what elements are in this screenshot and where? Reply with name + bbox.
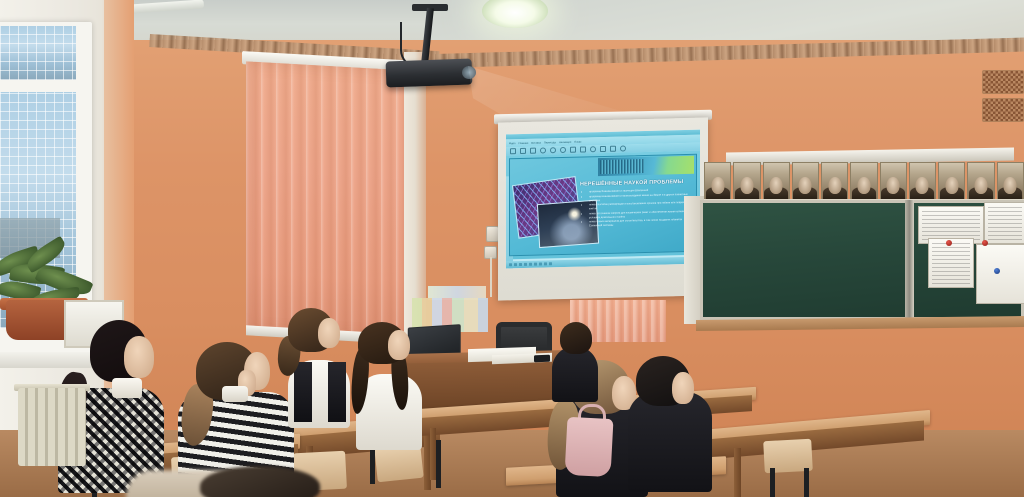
student-vest (294, 362, 312, 422)
volume-icon[interactable] (544, 262, 547, 265)
chair-leg (804, 468, 809, 497)
ribbon-tab-home[interactable]: Главная (518, 141, 528, 144)
student-vest (328, 362, 346, 422)
student-torso (628, 392, 712, 492)
note-icon[interactable] (580, 146, 586, 152)
magnet-icon[interactable] (946, 240, 952, 246)
window-pane-top (0, 26, 76, 80)
chair-leg (770, 468, 775, 497)
portrait (909, 162, 936, 202)
slide-canvas[interactable]: НЕРЕШЁННЫЕ НАУКОЙ ПРОБЛЕМЫ проблема बозн… (506, 151, 700, 260)
zoom-icon[interactable] (540, 147, 546, 153)
wall-vent-icon (982, 70, 1024, 94)
board-center-divider (905, 200, 914, 320)
text-icon[interactable] (530, 148, 536, 154)
pen-icon[interactable] (590, 146, 596, 152)
smartphone-on-desk[interactable] (534, 355, 550, 363)
word-icon[interactable] (529, 263, 532, 266)
wall-vent-icon (982, 98, 1024, 122)
portrait (821, 162, 848, 202)
writer-portraits-row (704, 162, 1024, 202)
student-hair (560, 322, 592, 354)
presentation-app-window[interactable]: Файл Главная Вставка Переходы Анимация П… (506, 130, 700, 269)
chair-frame-bar (436, 440, 441, 488)
student-head (672, 372, 694, 404)
ribbon-tab-transitions[interactable]: Переходы (544, 141, 556, 144)
current-slide: НЕРЕШЁННЫЕ НАУКОЙ ПРОБЛЕМЫ проблема बозн… (509, 154, 697, 257)
highlight-icon[interactable] (600, 146, 606, 152)
student-collar (222, 386, 248, 402)
browser-icon[interactable] (514, 263, 517, 266)
window-sill (0, 352, 98, 368)
outlet-cable (490, 257, 492, 297)
folder-icon[interactable] (519, 263, 522, 266)
cursor-icon[interactable] (510, 148, 516, 154)
portrait (938, 162, 965, 202)
portrait (704, 162, 731, 202)
shape-icon[interactable] (520, 148, 526, 154)
desk-leg (734, 448, 741, 497)
portrait (733, 162, 760, 202)
rotate-icon[interactable] (560, 147, 566, 153)
projector-lens-icon (462, 66, 476, 79)
student-collar (112, 378, 142, 398)
portrait (997, 162, 1024, 202)
portrait (792, 162, 819, 202)
clock-icon[interactable] (549, 262, 552, 265)
student-head (388, 330, 410, 360)
student-head (124, 336, 154, 378)
student-head (318, 318, 340, 348)
student-torso (552, 346, 598, 402)
magnet-icon-blue[interactable] (994, 268, 1000, 274)
portrait (850, 162, 877, 202)
quote-poster (984, 202, 1024, 244)
media-icon[interactable] (534, 263, 537, 266)
ceiling-projector[interactable] (386, 59, 473, 88)
ribbon-tab-slideshow[interactable]: Показ (574, 140, 581, 143)
rules-poster (928, 238, 974, 288)
ribbon-tab-file[interactable]: Файл (509, 142, 515, 145)
wall-radiator (18, 388, 86, 466)
settings-icon[interactable] (620, 145, 626, 151)
slide-bullet-list: проблема बозникновения и эволюции Вселен… (584, 188, 693, 229)
classroom-scene: Файл Главная Вставка Переходы Анимация П… (0, 0, 1024, 497)
portrait (967, 162, 994, 202)
slide-bullet: поиск новых материалов для строительства… (589, 218, 693, 229)
decorative-gradient-banner (598, 156, 694, 176)
portrait (763, 162, 790, 202)
pink-bag[interactable] (565, 417, 614, 477)
play-icon[interactable] (550, 147, 556, 153)
grid-icon[interactable] (570, 147, 576, 153)
network-icon[interactable] (539, 262, 542, 265)
vertical-blinds[interactable] (246, 61, 412, 340)
portrait (880, 162, 907, 202)
powerpoint-icon[interactable] (524, 263, 527, 266)
slide-title: НЕРЕШЁННЫЕ НАУКОЙ ПРОБЛЕМЫ (580, 179, 690, 188)
banner-bars (600, 159, 644, 174)
start-icon[interactable] (509, 263, 512, 266)
blank-poster (976, 244, 1024, 304)
eraser-icon[interactable] (610, 146, 616, 152)
ribbon-tab-animation[interactable]: Анимация (559, 140, 571, 143)
pull-down-projection-screen: Файл Главная Вставка Переходы Анимация П… (498, 117, 708, 300)
ribbon-tab-insert[interactable]: Вставка (531, 141, 541, 144)
magnet-icon[interactable] (982, 240, 988, 246)
